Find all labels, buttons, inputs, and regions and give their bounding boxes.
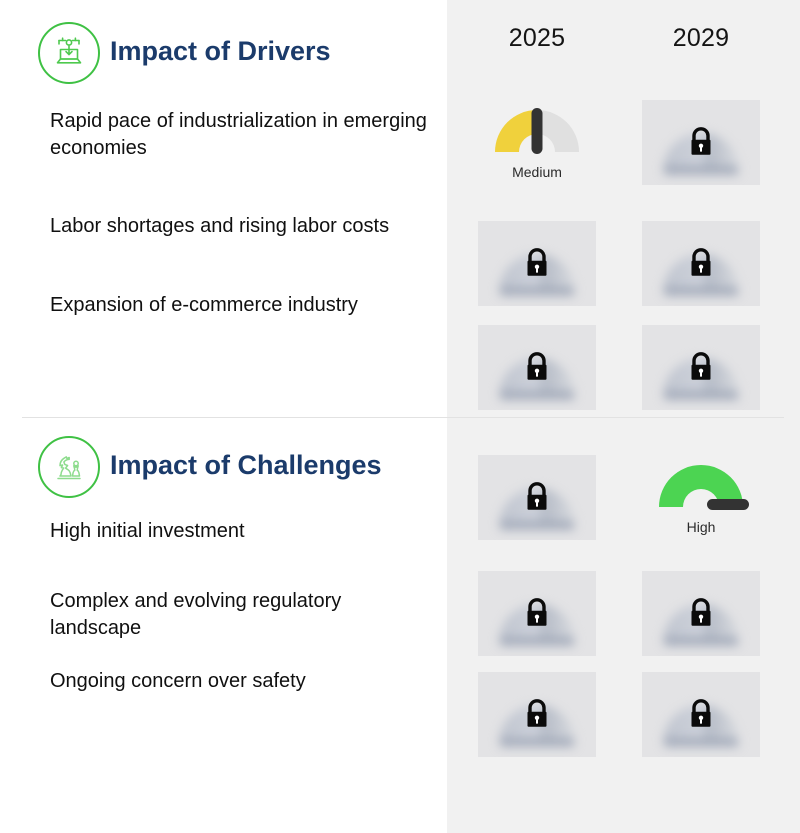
- locked-cell-drivers-0-2029[interactable]: [642, 100, 760, 185]
- driver-item-label-1: Labor shortages and rising labor costs: [50, 213, 430, 240]
- column-header-2025: 2025: [478, 24, 596, 53]
- locked-cell-drivers-1-2025[interactable]: [478, 221, 596, 306]
- lock-icon: [686, 696, 716, 732]
- gauge-arc: [651, 455, 751, 513]
- section-challenges: Impact of Challenges High initial invest…: [0, 418, 447, 494]
- locked-cell-challenges-0-2025[interactable]: [478, 455, 596, 540]
- section-header-challenges: Impact of Challenges: [0, 418, 447, 494]
- locked-cell-challenges-2-2025[interactable]: [478, 672, 596, 757]
- column-header-2029: 2029: [642, 24, 760, 53]
- locked-cell-challenges-1-2029[interactable]: [642, 571, 760, 656]
- gauge-label-high: High: [642, 519, 760, 535]
- locked-cell-challenges-1-2025[interactable]: [478, 571, 596, 656]
- gauge-medium: [478, 100, 596, 162]
- gauge-high: [642, 455, 760, 517]
- gauge-arc: [487, 100, 587, 158]
- lock-icon: [522, 245, 552, 281]
- challenge-item-label-0: High initial investment: [50, 518, 430, 545]
- challenge-item-label-1: Complex and evolving regulatory landscap…: [50, 588, 430, 642]
- locked-cell-drivers-1-2029[interactable]: [642, 221, 760, 306]
- gauge-label-medium: Medium: [478, 164, 596, 180]
- driver-item-label-0: Rapid pace of industrialization in emerg…: [50, 108, 430, 162]
- driver-item-label-2: Expansion of e-commerce industry: [50, 292, 430, 319]
- lock-icon: [522, 595, 552, 631]
- challenge-item-label-2: Ongoing concern over safety: [50, 668, 430, 695]
- lock-icon: [686, 245, 716, 281]
- locked-cell-drivers-2-2025[interactable]: [478, 325, 596, 410]
- section-drivers: Impact of Drivers Rapid pace of industri…: [0, 0, 447, 76]
- lock-icon: [686, 595, 716, 631]
- section-title-drivers: Impact of Drivers: [110, 36, 331, 67]
- lock-icon: [686, 124, 716, 160]
- locked-cell-drivers-2-2029[interactable]: [642, 325, 760, 410]
- impact-cell-challenges-0-2029[interactable]: High: [642, 455, 760, 540]
- locked-cell-challenges-2-2029[interactable]: [642, 672, 760, 757]
- lock-icon: [522, 696, 552, 732]
- section-header-drivers: Impact of Drivers: [0, 0, 447, 76]
- impact-cell-drivers-0-2025[interactable]: Medium: [478, 100, 596, 185]
- lock-icon: [522, 479, 552, 515]
- lock-icon: [686, 349, 716, 385]
- section-title-challenges: Impact of Challenges: [110, 450, 382, 481]
- lock-icon: [522, 349, 552, 385]
- factory-download-icon: [38, 22, 100, 84]
- chess-pieces-icon: [38, 436, 100, 498]
